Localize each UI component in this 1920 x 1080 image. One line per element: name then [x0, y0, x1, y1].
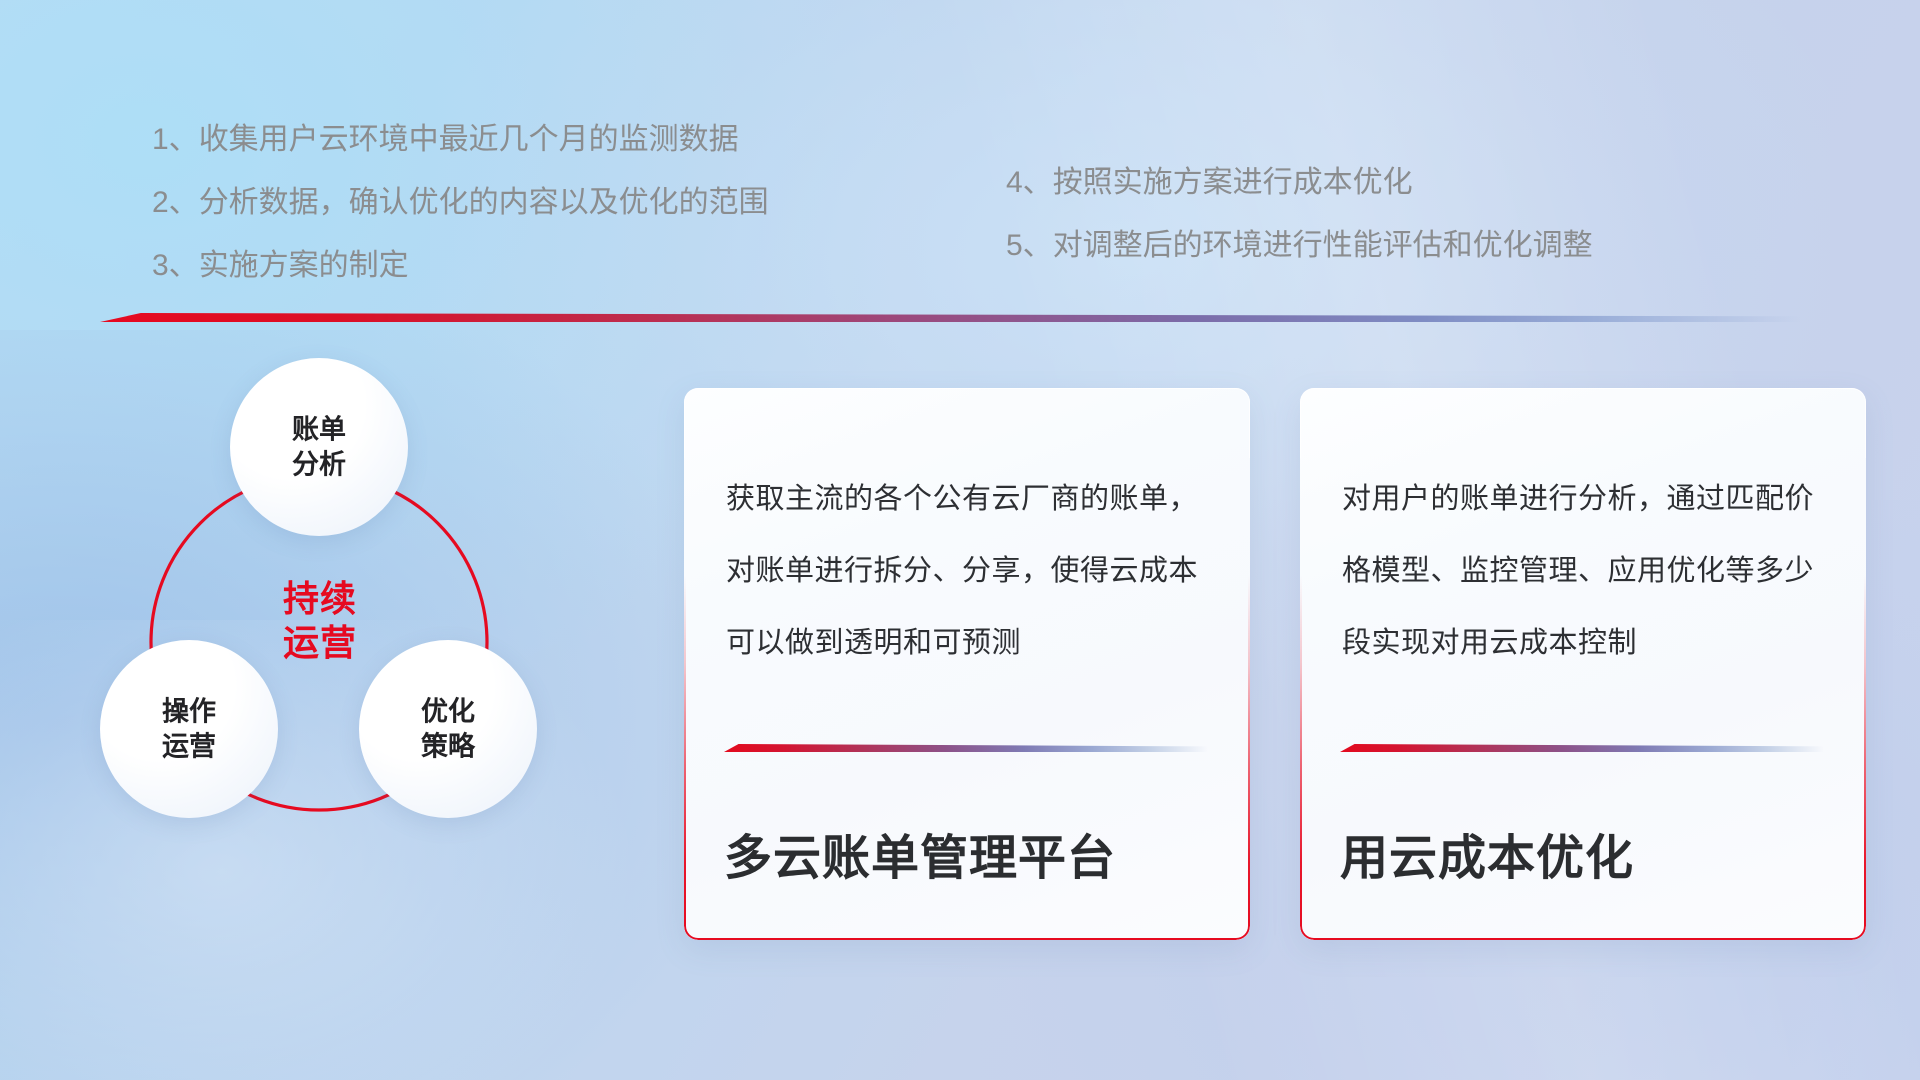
- feature-card-cloud-cost-optimization[interactable]: 对用户的账单进行分析，通过匹配价格模型、监控管理、应用优化等多少段实现对用云成本…: [1300, 388, 1866, 940]
- section-divider-bar: [100, 313, 1800, 322]
- list-item-number: 2、: [152, 188, 199, 218]
- list-item-number: 1、: [152, 125, 199, 155]
- list-item: 1、 收集用户云环境中最近几个月的监测数据: [152, 125, 769, 155]
- steps-right-column: 4、 按照实施方案进行成本优化 5、 对调整后的环境进行性能评估和优化调整: [1006, 168, 1593, 294]
- list-item-number: 5、: [1006, 231, 1053, 261]
- cycle-center-label: 持续 运营: [222, 566, 418, 676]
- feature-card-title: 用云成本优化: [1340, 833, 1826, 886]
- feature-card-divider: [724, 744, 1208, 752]
- cycle-lobe-label: 操作 运营: [100, 694, 278, 763]
- cycle-lobe-label: 优化 策略: [359, 694, 537, 763]
- list-item-number: 4、: [1006, 168, 1053, 198]
- steps-left-column: 1、 收集用户云环境中最近几个月的监测数据 2、 分析数据，确认优化的内容以及优…: [152, 125, 769, 314]
- cycle-lobe-bill-analysis[interactable]: 账单 分析: [230, 358, 408, 536]
- feature-card-divider-bar: [724, 744, 1208, 752]
- cycle-lobe-label: 账单 分析: [230, 412, 408, 481]
- feature-card-title: 多云账单管理平台: [724, 833, 1210, 886]
- list-item-text: 按照实施方案进行成本优化: [1053, 168, 1413, 198]
- list-item-text: 对调整后的环境进行性能评估和优化调整: [1053, 231, 1593, 261]
- cycle-lobe-label-line2: 运营: [100, 729, 278, 764]
- cycle-diagram: 账单 分析 操作 运营 优化 策略 持续 运营: [96, 352, 656, 952]
- slide-canvas: 1、 收集用户云环境中最近几个月的监测数据 2、 分析数据，确认优化的内容以及优…: [0, 0, 1920, 1080]
- cycle-lobe-label-line2: 策略: [359, 729, 537, 764]
- cycle-lobe-label-line1: 账单: [230, 412, 408, 447]
- list-item: 5、 对调整后的环境进行性能评估和优化调整: [1006, 231, 1593, 261]
- list-item: 2、 分析数据，确认优化的内容以及优化的范围: [152, 188, 769, 218]
- steps-section: 1、 收集用户云环境中最近几个月的监测数据 2、 分析数据，确认优化的内容以及优…: [0, 0, 1920, 300]
- feature-card-body: 对用户的账单进行分析，通过匹配价格模型、监控管理、应用优化等多少段实现对用云成本…: [1342, 464, 1828, 680]
- list-item: 3、 实施方案的制定: [152, 251, 769, 281]
- list-item: 4、 按照实施方案进行成本优化: [1006, 168, 1593, 198]
- cycle-lobe-label-line2: 分析: [230, 447, 408, 482]
- feature-card-body: 获取主流的各个公有云厂商的账单，对账单进行拆分、分享，使得云成本可以做到透明和可…: [726, 464, 1212, 680]
- list-item-text: 收集用户云环境中最近几个月的监测数据: [199, 125, 739, 155]
- list-item-number: 3、: [152, 251, 199, 281]
- feature-card-divider-bar: [1340, 744, 1824, 752]
- list-item-text: 分析数据，确认优化的内容以及优化的范围: [199, 188, 769, 218]
- feature-card-multicloud-billing[interactable]: 获取主流的各个公有云厂商的账单，对账单进行拆分、分享，使得云成本可以做到透明和可…: [684, 388, 1250, 940]
- cycle-center-label-line2: 运营: [283, 621, 357, 665]
- section-divider: [100, 313, 1800, 322]
- list-item-text: 实施方案的制定: [199, 251, 409, 281]
- feature-card-highlight-edge: [684, 388, 1250, 458]
- cycle-lobe-label-line1: 操作: [100, 694, 278, 729]
- cycle-center-label-line1: 持续: [283, 577, 357, 621]
- cycle-lobe-label-line1: 优化: [359, 694, 537, 729]
- feature-card-highlight-edge: [1300, 388, 1866, 458]
- feature-card-divider: [1340, 744, 1824, 752]
